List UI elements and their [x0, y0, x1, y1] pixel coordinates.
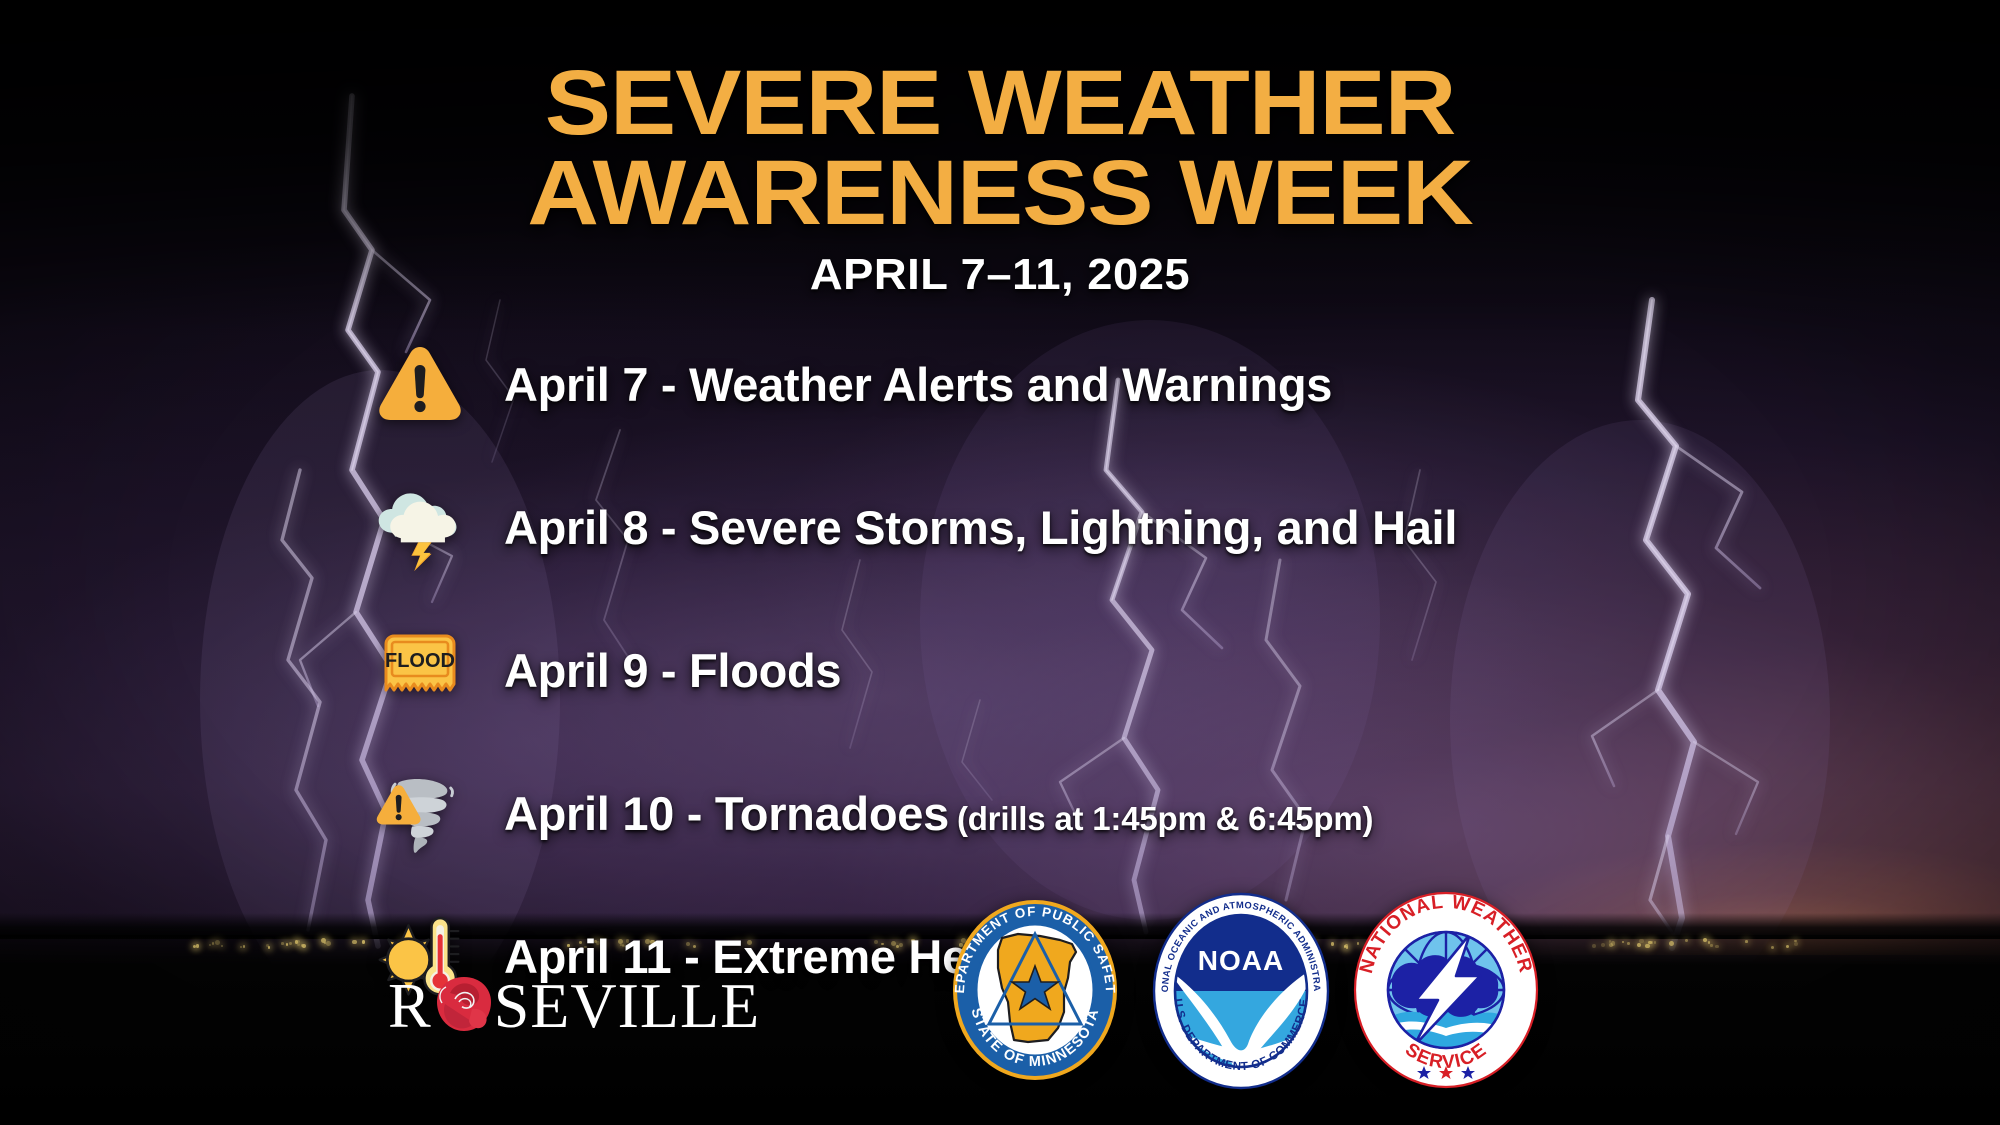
- roseville-logo-suffix: SEVILLE: [494, 969, 761, 1043]
- tornado-icon: [372, 765, 468, 861]
- list-item-label: April 9 - Floods: [504, 643, 841, 698]
- list-item-main-text: April 10 - Tornadoes: [504, 787, 949, 840]
- noaa-seal-center-text: NOAA: [1198, 945, 1284, 976]
- list-item-label: April 8 - Severe Storms, Lightning, and …: [504, 500, 1457, 555]
- thunder-cloud-icon: [372, 479, 468, 575]
- warning-triangle-icon: [372, 336, 468, 432]
- noaa-seal: NOAA NATIONAL OCEANIC AND ATMOSPHERIC AD…: [1152, 892, 1330, 1095]
- page-title: SEVERE WEATHER AWARENESS WEEK: [0, 58, 2000, 238]
- list-item: April 7 - Weather Alerts and Warnings: [372, 330, 1940, 438]
- date-range-subtitle: APRIL 7–11, 2025: [0, 250, 2000, 300]
- rose-icon: [428, 973, 500, 1039]
- list-item: April 8 - Severe Storms, Lightning, and …: [372, 473, 1940, 581]
- list-item: FLOOD April 9 - Floods: [372, 616, 1940, 724]
- poster-canvas: SEVERE WEATHER AWARENESS WEEK APRIL 7–11…: [0, 0, 2000, 1125]
- list-item: April 10 - Tornadoes(drills at 1:45pm & …: [372, 759, 1940, 867]
- mn-dps-seal: DEPARTMENT OF PUBLIC SAFETY STATE OF MIN…: [940, 890, 1130, 1095]
- list-item-label: April 7 - Weather Alerts and Warnings: [504, 357, 1332, 412]
- flood-sign-icon: FLOOD: [372, 622, 468, 718]
- nws-seal: NATIONAL WEATHER SERVICE: [1352, 890, 1540, 1095]
- footer: R SEVILLE: [0, 865, 2000, 1125]
- flood-sign-text: FLOOD: [385, 650, 455, 672]
- roseville-logo-prefix: R: [388, 969, 432, 1043]
- roseville-logo: R SEVILLE: [388, 969, 760, 1043]
- agency-seals: DEPARTMENT OF PUBLIC SAFETY STATE OF MIN…: [940, 890, 1540, 1095]
- title-line-1: SEVERE WEATHER: [545, 52, 1456, 154]
- title-line-2: AWARENESS WEEK: [0, 148, 2000, 238]
- list-item-note: (drills at 1:45pm & 6:45pm): [957, 800, 1373, 837]
- list-item-label: April 10 - Tornadoes(drills at 1:45pm & …: [504, 786, 1373, 841]
